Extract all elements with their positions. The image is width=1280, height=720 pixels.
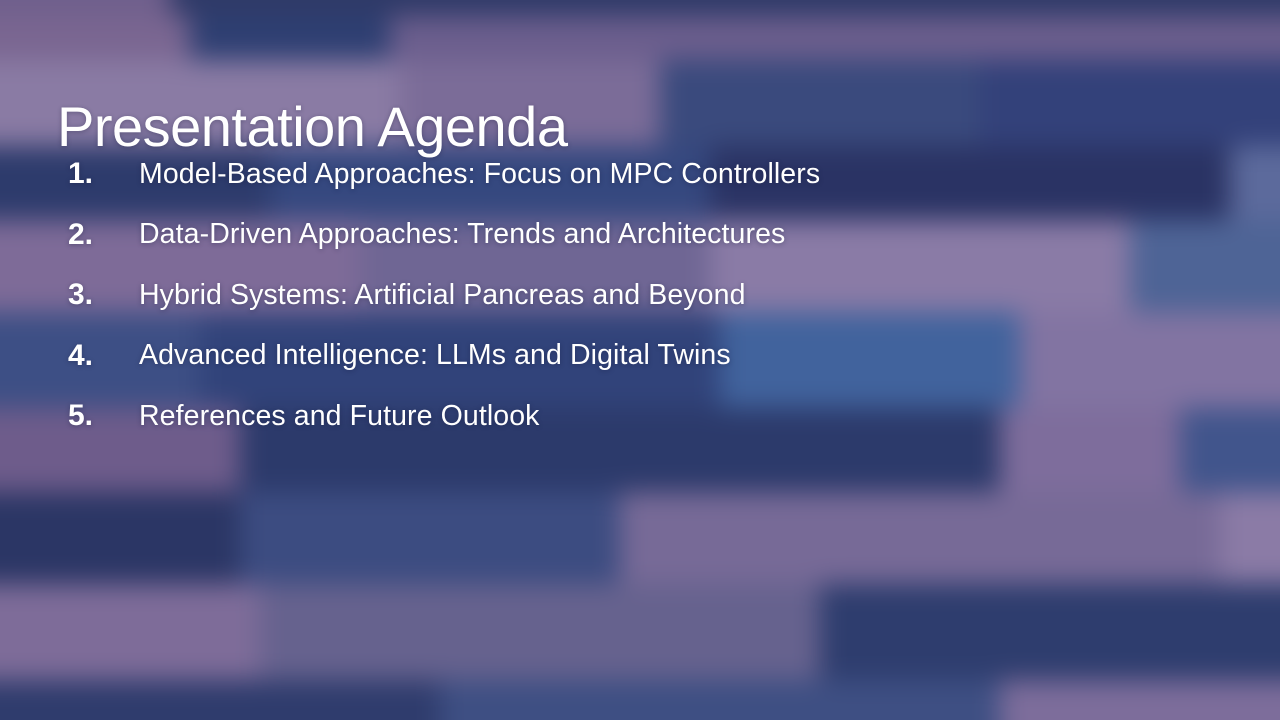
list-item[interactable]: 2. Data-Driven Approaches: Trends and Ar… bbox=[0, 205, 1280, 266]
list-item[interactable]: 3. Hybrid Systems: Artificial Pancreas a… bbox=[0, 265, 1280, 326]
list-item-number: 3. bbox=[68, 278, 120, 312]
list-item-label: Model-Based Approaches: Focus on MPC Con… bbox=[139, 158, 820, 191]
list-item-label: References and Future Outlook bbox=[139, 400, 540, 433]
list-item-number: 5. bbox=[68, 399, 120, 433]
list-item-number: 4. bbox=[68, 339, 120, 373]
list-item[interactable]: 5. References and Future Outlook bbox=[0, 386, 1280, 447]
agenda-list: 1. Model-Based Approaches: Focus on MPC … bbox=[0, 144, 1280, 447]
list-item-label: Data-Driven Approaches: Trends and Archi… bbox=[139, 218, 785, 251]
slide-content: Presentation Agenda 1. Model-Based Appro… bbox=[0, 0, 1280, 720]
list-item[interactable]: 1. Model-Based Approaches: Focus on MPC … bbox=[0, 144, 1280, 205]
list-item-label: Advanced Intelligence: LLMs and Digital … bbox=[139, 339, 731, 372]
presentation-slide: Presentation Agenda 1. Model-Based Appro… bbox=[0, 0, 1280, 720]
list-item-label: Hybrid Systems: Artificial Pancreas and … bbox=[139, 279, 746, 312]
list-item-number: 2. bbox=[68, 218, 120, 252]
list-item[interactable]: 4. Advanced Intelligence: LLMs and Digit… bbox=[0, 326, 1280, 387]
list-item-number: 1. bbox=[68, 157, 120, 191]
